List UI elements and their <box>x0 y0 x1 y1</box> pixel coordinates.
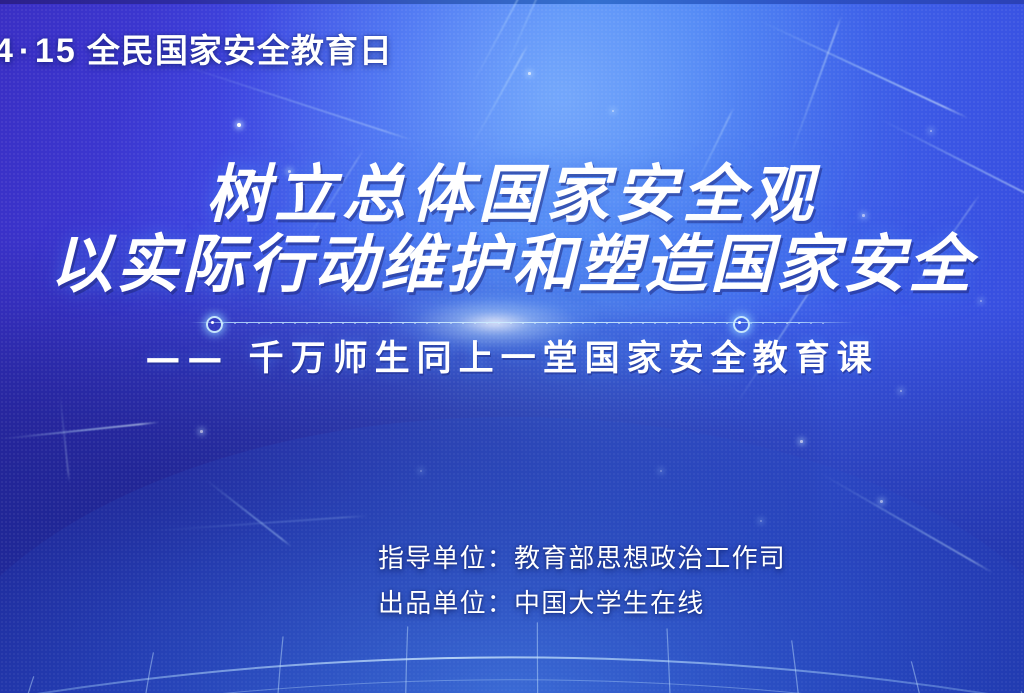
decorative-divider <box>190 315 854 331</box>
headline-line-2: 以实际行动维护和塑造国家安全 <box>0 229 1024 300</box>
eyebrow-date-label: 4·15 全民国家安全教育日 <box>0 24 393 72</box>
security-education-day-poster: 4·15 全民国家安全教育日 树立总体国家安全观 以实际行动维护和塑造国家安全 … <box>0 0 1024 693</box>
credit-line-guidance: 指导单位：教育部思想政治工作司 <box>378 536 786 581</box>
eyebrow-month: 4 <box>0 32 15 70</box>
subheadline: —— 千万师生同上一堂国家安全教育课 <box>0 330 1024 381</box>
eyebrow-day: 15 <box>35 32 77 70</box>
credit-line-producer: 出品单位：中国大学生在线 <box>378 581 786 626</box>
headline-block: 树立总体国家安全观 以实际行动维护和塑造国家安全 <box>0 158 1024 300</box>
headline-line-1: 树立总体国家安全观 <box>0 158 1024 231</box>
eyebrow-text: 全民国家安全教育日 <box>87 32 393 69</box>
globe-network-mesh <box>0 347 1024 693</box>
eyebrow-separator: · <box>15 32 35 69</box>
credits-block: 指导单位：教育部思想政治工作司 出品单位：中国大学生在线 <box>378 536 786 625</box>
